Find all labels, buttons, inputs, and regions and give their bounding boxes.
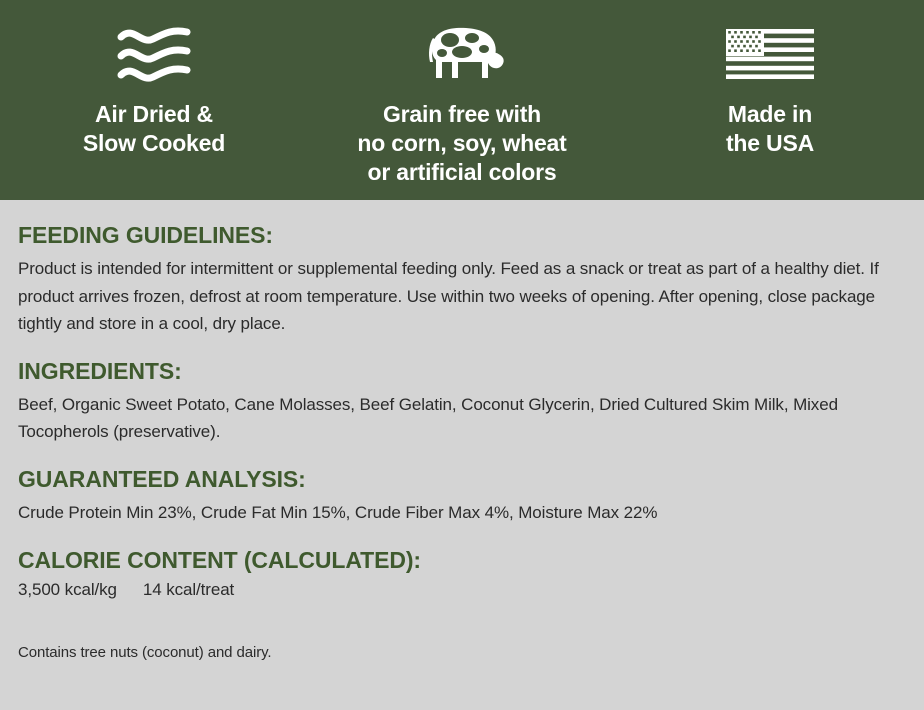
guaranteed-analysis-heading: GUARANTEED ANALYSIS: xyxy=(18,466,906,493)
wavy-lines-icon xyxy=(115,18,193,90)
grazing-cow-icon xyxy=(418,18,506,90)
calories-per-kg: 3,500 kcal/kg xyxy=(18,580,117,599)
ingredients-heading: INGREDIENTS: xyxy=(18,358,906,385)
calorie-content-heading: CALORIE CONTENT (CALCULATED): xyxy=(18,547,906,574)
guaranteed-analysis-section: GUARANTEED ANALYSIS: Crude Protein Min 2… xyxy=(18,466,906,527)
feature-caption: Made in the USA xyxy=(726,100,814,158)
feature-made-in-usa: Made in the USA xyxy=(620,18,920,158)
product-label-panel: Air Dried & Slow Cooked xyxy=(0,0,924,710)
label-body: FEEDING GUIDELINES: Product is intended … xyxy=(0,200,924,661)
allergen-note: Contains tree nuts (coconut) and dairy. xyxy=(18,644,906,661)
usa-flag-icon xyxy=(726,18,814,90)
feeding-guidelines-text: Product is intended for intermittent or … xyxy=(18,255,906,338)
calorie-content-section: CALORIE CONTENT (CALCULATED): 3,500 kcal… xyxy=(18,547,906,600)
feature-grain-free: Grain free with no corn, soy, wheat or a… xyxy=(312,18,612,186)
calories-per-treat: 14 kcal/treat xyxy=(143,580,234,599)
ingredients-section: INGREDIENTS: Beef, Organic Sweet Potato,… xyxy=(18,358,906,446)
feeding-guidelines-heading: FEEDING GUIDELINES: xyxy=(18,222,906,249)
feature-air-dried: Air Dried & Slow Cooked xyxy=(4,18,304,158)
feature-caption: Air Dried & Slow Cooked xyxy=(83,100,225,158)
ingredients-text: Beef, Organic Sweet Potato, Cane Molasse… xyxy=(18,391,906,446)
calorie-values: 3,500 kcal/kg14 kcal/treat xyxy=(18,580,906,600)
feature-caption: Grain free with no corn, soy, wheat or a… xyxy=(357,100,566,186)
feature-band: Air Dried & Slow Cooked xyxy=(0,0,924,200)
feeding-guidelines-section: FEEDING GUIDELINES: Product is intended … xyxy=(18,222,906,338)
guaranteed-analysis-text: Crude Protein Min 23%, Crude Fat Min 15%… xyxy=(18,499,906,527)
